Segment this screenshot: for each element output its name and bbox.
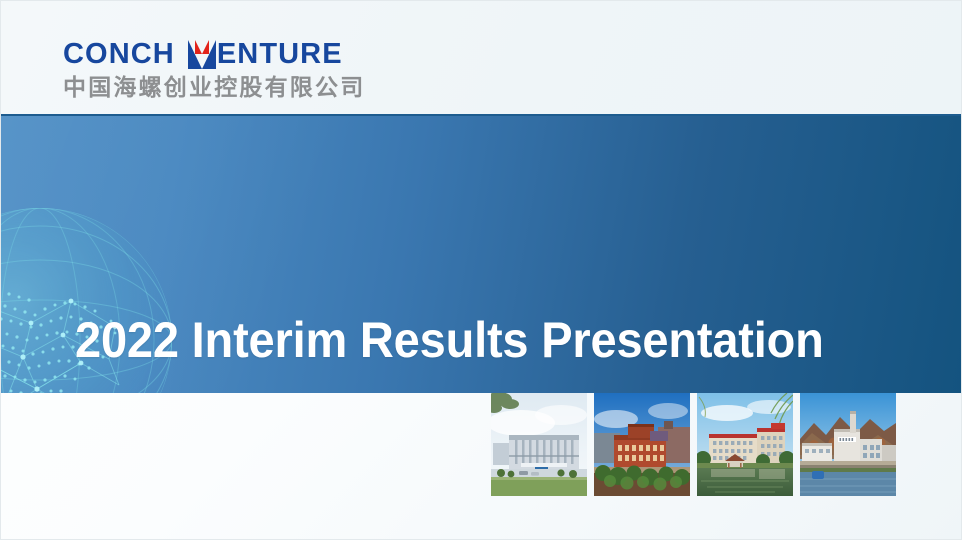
company-logo: CONCH ENTURE 中国海螺创业控股有限公司	[63, 39, 365, 99]
logo-v-triangle-icon	[188, 40, 216, 69]
slide-title: 2022 Interim Results Presentation	[75, 314, 855, 367]
logo-word-venture-group: ENTURE	[188, 40, 343, 69]
logo-wordmark: CONCH ENTURE	[63, 39, 365, 69]
photo-campus-buildings-by-pond	[697, 393, 793, 496]
title-banner: 2022 Interim Results Presentation	[1, 116, 962, 393]
slide-header: CONCH ENTURE 中国海螺创业控股有限公司	[1, 1, 962, 116]
logo-word-enture: ENTURE	[217, 38, 343, 70]
slide-footer-area	[1, 496, 962, 540]
presentation-slide: CONCH ENTURE 中国海螺创业控股有限公司	[0, 0, 962, 540]
photo-cement-plant-in-mountains	[800, 393, 896, 496]
photo-modern-glass-office-building	[491, 393, 587, 496]
logo-word-conch: CONCH	[63, 40, 175, 69]
logo-chinese-name: 中国海螺创业控股有限公司	[63, 76, 365, 99]
photo-red-brick-industrial-plant	[594, 393, 690, 496]
facility-photo-strip	[491, 393, 899, 496]
